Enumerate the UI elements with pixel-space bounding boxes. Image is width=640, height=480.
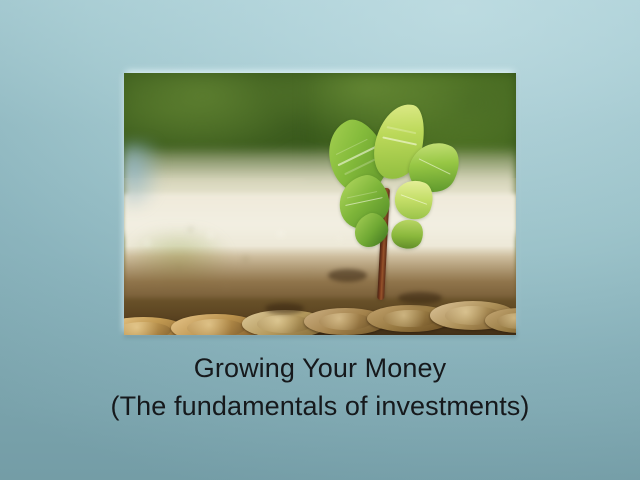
- leaf-vein: [418, 158, 451, 175]
- slide-title[interactable]: Growing Your Money (The fundamentals of …: [0, 349, 640, 425]
- photo-seedling: [336, 94, 493, 309]
- slide-picture[interactable]: [124, 73, 516, 335]
- title-line-1: Growing Your Money: [0, 349, 640, 387]
- title-line-2: (The fundamentals of investments): [0, 387, 640, 425]
- coin-shadow: [265, 303, 304, 314]
- leaf-vein: [382, 136, 417, 145]
- presentation-slide: Growing Your Money (The fundamentals of …: [0, 0, 640, 480]
- leaf-vein: [346, 190, 377, 198]
- seedling-leaf: [388, 214, 428, 254]
- photo-blue-haze: [124, 141, 187, 209]
- leaf-vein: [400, 194, 427, 205]
- leaf-vein: [345, 196, 383, 205]
- leaf-vein: [338, 146, 377, 166]
- leaf-vein: [387, 126, 416, 134]
- photo-sprout-growing-from-coins: [124, 73, 516, 335]
